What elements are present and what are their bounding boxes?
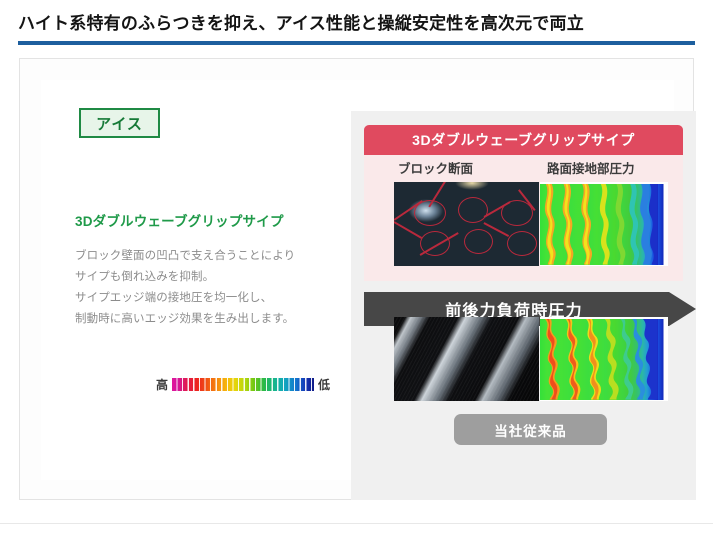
scale-gradient-bar [172,378,314,391]
description-line-3: サイプエッジ端の接地圧を均一化し、 [75,288,343,309]
annotation-circle-icon [507,231,537,256]
contact-pressure-map-conventional [540,317,668,401]
content-card-inner: アイス 3Dダブルウェーブグリップサイプ ブロック壁面の凹凸で支え合うことにより… [41,80,674,480]
annotation-line [394,221,422,238]
microscope-photo [394,182,539,266]
photo-highlight [455,182,489,190]
description-line-1: ブロック壁面の凹凸で支え合うことにより [75,246,343,267]
heatmap-edge-band [658,184,668,265]
content-card: アイス 3Dダブルウェーブグリップサイプ ブロック壁面の凹凸で支え合うことにより… [19,58,694,500]
heatmap-edge-band [658,319,668,400]
block-cross-section-image-new [394,182,539,266]
footer-strip [0,523,713,541]
comparison-panel: 3Dダブルウェーブグリップサイプ ブロック断面 路面接地部圧力 [351,111,696,500]
page-header: ハイト系特有のふらつきを抑え、アイス性能と操縦安定性を高次元で両立 [0,0,713,49]
ice-category-badge-label: アイス [96,113,143,134]
heatmap-wave-overlay [540,184,658,265]
scale-high-label: 高 [156,379,168,391]
annotation-circle-icon [464,229,493,254]
contact-pressure-map-new [540,182,668,266]
heatmap-field [540,184,658,265]
description-heading: 3Dダブルウェーブグリップサイプ [75,210,343,230]
new-product-section: 3Dダブルウェーブグリップサイプ ブロック断面 路面接地部圧力 [364,125,683,281]
header-underline [18,41,695,45]
heatmap-conventional [540,317,668,401]
column-label-row: ブロック断面 路面接地部圧力 [364,158,683,178]
page-title: ハイト系特有のふらつきを抑え、アイス性能と操縦安定性を高次元で両立 [18,9,584,34]
heatmap-field [540,319,658,400]
conventional-product-pill-label: 当社従来品 [494,420,567,440]
tread-photo [394,317,539,401]
heatmap-new [540,182,668,266]
description-line-4: 制動時に高いエッジ効果を生み出します。 [75,309,343,330]
column-label-cross-section: ブロック断面 [398,158,473,177]
annotation-circle-icon [458,197,488,223]
column-label-contact-pressure: 路面接地部圧力 [547,158,635,177]
new-product-header: 3Dダブルウェーブグリップサイプ [364,125,683,155]
new-product-header-label: 3Dダブルウェーブグリップサイプ [412,130,635,150]
conventional-product-pill: 当社従来品 [454,414,607,445]
description-line-2: サイプも倒れ込みを抑制。 [75,267,343,288]
ice-category-badge: アイス [79,108,160,138]
scale-tick-marks [172,378,314,391]
description-column: 3Dダブルウェーブグリップサイプ ブロック壁面の凹凸で支え合うことにより サイプ… [75,210,343,330]
description-body: ブロック壁面の凹凸で支え合うことにより サイプも倒れ込みを抑制。 サイプエッジ端… [75,246,343,330]
scale-low-label: 低 [318,379,330,391]
pressure-scale-legend: 高 低 [156,378,330,391]
heatmap-wave-overlay [540,319,658,400]
page-root: ハイト系特有のふらつきを抑え、アイス性能と操縦安定性を高次元で両立 アイス 3D… [0,0,713,540]
tread-photo-grain [394,317,539,401]
block-cross-section-image-conventional [394,317,539,401]
